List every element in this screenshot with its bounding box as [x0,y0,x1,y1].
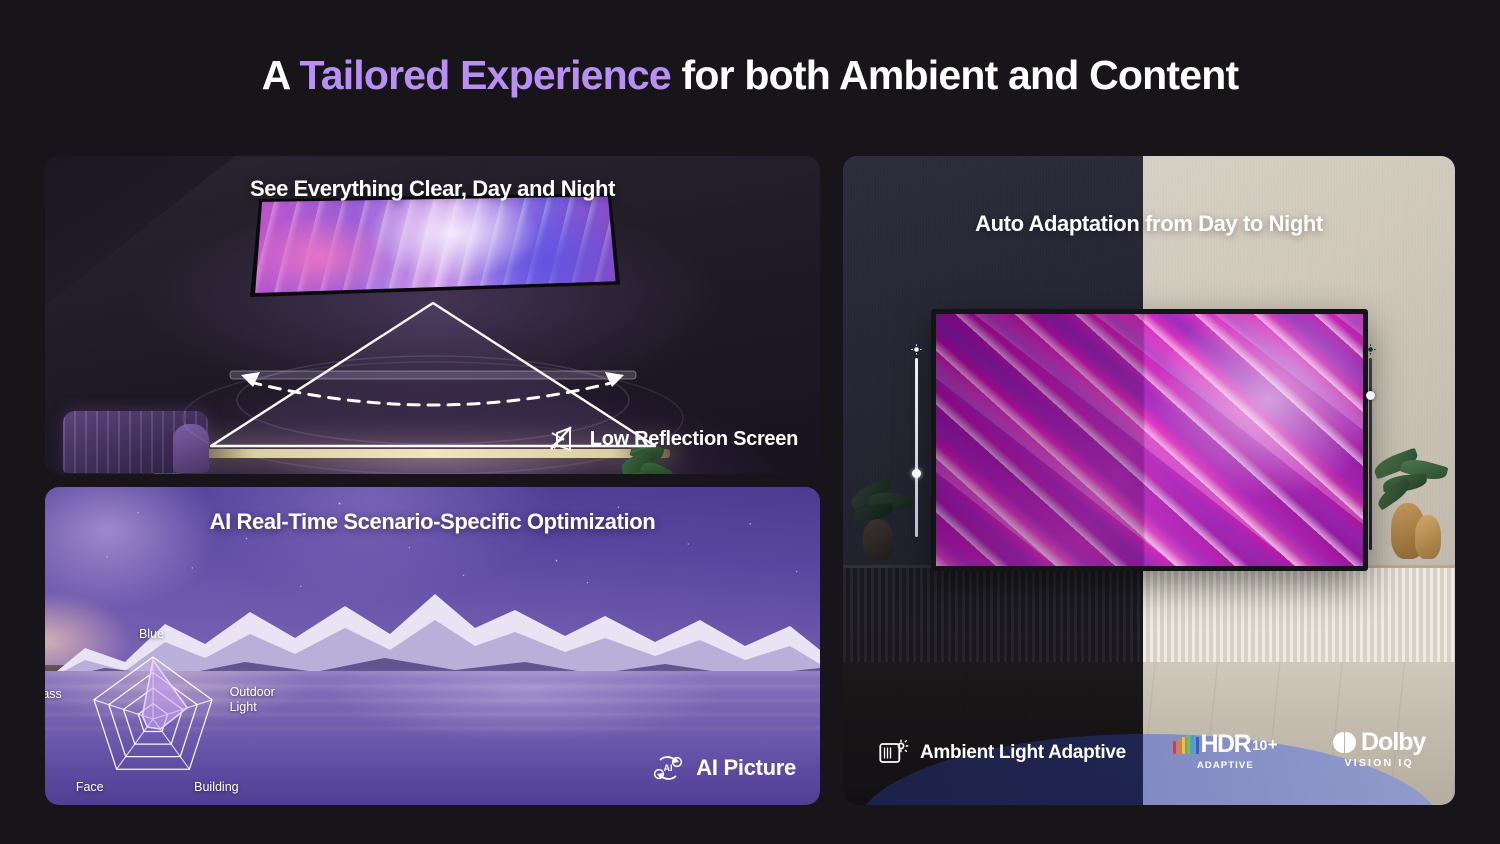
slider-knob-night[interactable] [912,469,921,478]
dolby-word: Dolby [1361,728,1425,757]
badge-ambient-light-adaptive-label: Ambient Light Adaptive [920,742,1126,764]
badge-ambient-light-adaptive: Ambient Light Adaptive [879,739,1126,767]
radar-label-building: Building [194,780,238,794]
living-room-scene [843,156,1455,805]
hdr-word: HDR [1201,730,1251,759]
tv-screen-content-auto [936,314,1364,567]
wall-mounted-tv-auto [931,309,1369,572]
dolby-vision-iq-sub: VISION IQ [1333,757,1425,769]
panel-ai-title: AI Real-Time Scenario-Specific Optimizat… [45,509,820,535]
slider-track-night[interactable] [915,358,918,537]
hdr-plus: + [1268,735,1278,755]
badge-ai-picture-label: AI Picture [696,755,796,781]
headline-part-1: A [262,52,300,98]
badge-low-reflection: Low Reflection Screen [547,424,798,454]
radar-label-outdoor-light: Outdoor Light [230,685,278,714]
screen-no-reflection-icon [547,424,577,454]
sun-icon [1365,344,1376,355]
radar-series-polygon [142,660,187,729]
badge-ai-picture: AI AI Picture [651,751,796,785]
panel-reflection-title: See Everything Clear, Day and Night [45,176,820,202]
hdr-adaptive-sub: ADAPTIVE [1173,760,1278,771]
brightness-slider-day[interactable] [1366,344,1375,558]
console-night-half [843,565,1143,662]
panel-low-reflection: See Everything Clear, Day and Night Low … [45,156,820,474]
radar-label-face: Face [76,780,104,794]
headline-accent: Tailored Experience [300,52,671,98]
logo-dolby-vision-iq: Dolby VISION IQ [1333,728,1425,769]
radar-label-grass: Grass [45,687,62,701]
svg-text:AI: AI [664,763,673,773]
auto-badges-row: Ambient Light Adaptive HDR 10 + ADAPTIVE [843,739,1455,767]
sun-icon [911,344,922,355]
hdr-rainbow-bars [1173,735,1199,754]
headline-part-2: for both Ambient and Content [671,52,1238,98]
panel-ai-picture: AI Real-Time Scenario-Specific Optimizat… [45,487,820,805]
page-title: A Tailored Experience for both Ambient a… [0,52,1500,99]
radar-chart [57,647,297,797]
dolby-double-d-icon [1333,732,1356,753]
brightness-slider-night[interactable] [912,344,921,545]
radar-label-blue: Blue [139,627,164,641]
slider-knob-day[interactable] [1366,391,1375,400]
panel-auto-title: Auto Adaptation from Day to Night [843,211,1455,237]
hdr-ten: 10 [1252,737,1267,753]
panel-auto-adaptation: Auto Adaptation from Day to Night [843,156,1455,805]
slider-track-day[interactable] [1369,358,1372,550]
logo-hdr10plus-adaptive: HDR 10 + ADAPTIVE [1173,730,1278,771]
badge-low-reflection-label: Low Reflection Screen [590,428,798,451]
console-day-half [1143,565,1455,662]
ai-cycle-icon: AI [651,751,685,785]
screen-sun-icon [879,739,909,767]
